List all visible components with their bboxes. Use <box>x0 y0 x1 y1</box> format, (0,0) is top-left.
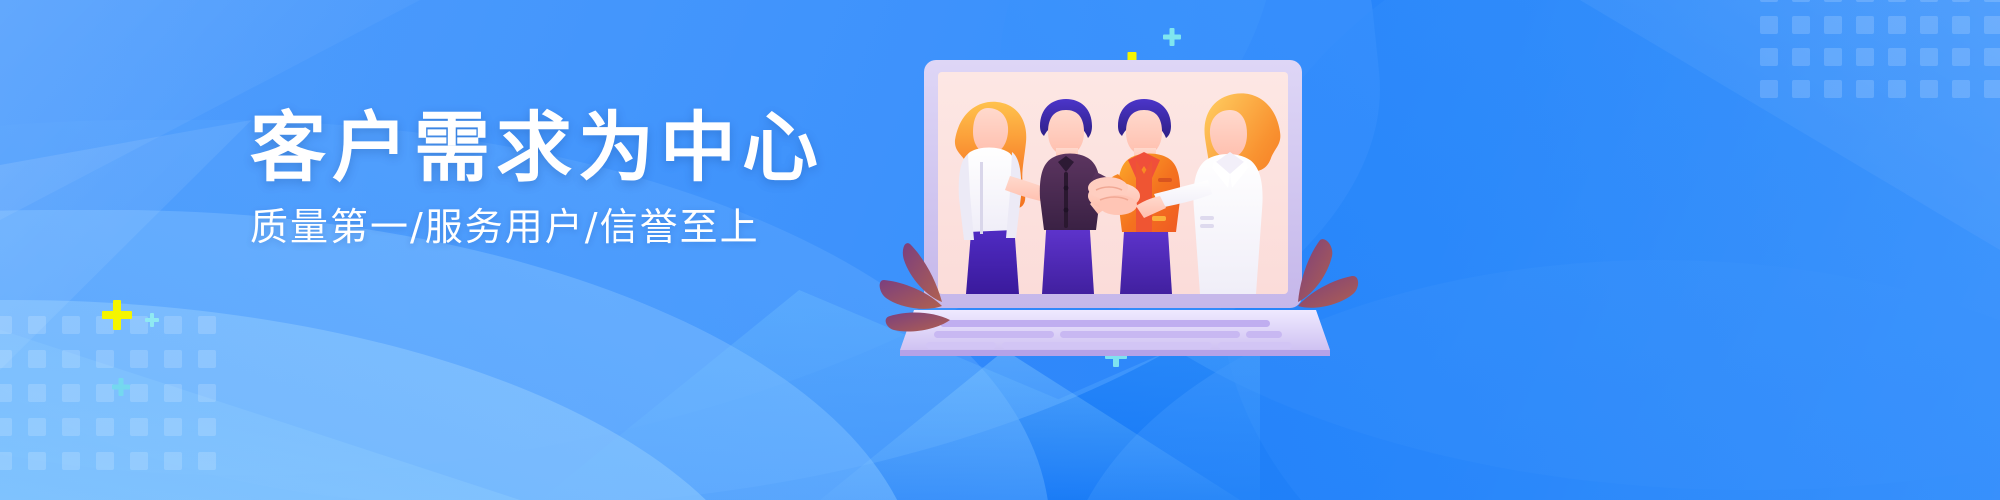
grid-cell <box>198 384 216 402</box>
grid-cell <box>164 350 182 368</box>
grid-cell <box>198 452 216 470</box>
background-wave-5 <box>0 300 780 500</box>
grid-cell <box>1856 16 1874 34</box>
grid-cell <box>1952 16 1970 34</box>
dot-grid-left <box>0 316 244 496</box>
grid-cell <box>1856 0 1874 2</box>
grid-cell <box>28 316 46 334</box>
grid-cell <box>28 418 46 436</box>
grid-cell <box>1824 80 1842 98</box>
grid-cell <box>1952 80 1970 98</box>
grid-cell <box>1920 16 1938 34</box>
grid-cell <box>164 316 182 334</box>
grid-cell <box>130 418 148 436</box>
grid-cell <box>1984 16 2000 34</box>
grid-cell <box>164 418 182 436</box>
grid-cell <box>1952 0 1970 2</box>
grid-cell <box>96 384 114 402</box>
grid-cell <box>130 350 148 368</box>
grid-cell <box>1760 48 1778 66</box>
grid-cell <box>62 384 80 402</box>
grid-cell <box>1952 48 1970 66</box>
grid-cell <box>1792 0 1810 2</box>
grid-cell <box>1760 80 1778 98</box>
background-wave-7 <box>1220 0 2000 500</box>
grid-cell <box>96 452 114 470</box>
grid-cell <box>0 316 12 334</box>
grid-cell <box>198 316 216 334</box>
grid-cell <box>1792 48 1810 66</box>
grid-cell <box>164 452 182 470</box>
grid-cell <box>62 418 80 436</box>
plus-cyan-upper-icon <box>112 378 130 396</box>
grid-cell <box>96 316 114 334</box>
facet-top-right <box>1580 0 2000 250</box>
banner-text-block: 客户需求为中心 质量第一/服务用户/信誉至上 <box>250 108 810 250</box>
facet-bottom-peak <box>820 350 1240 500</box>
grid-cell <box>1888 48 1906 66</box>
grid-cell <box>0 384 12 402</box>
plus-cyan-small-icon <box>1163 28 1181 46</box>
grid-cell <box>1760 16 1778 34</box>
grid-cell <box>1792 16 1810 34</box>
grid-cell <box>1824 48 1842 66</box>
grid-cell <box>130 316 148 334</box>
grid-cell <box>96 350 114 368</box>
banner-subline: 质量第一/服务用户/信誉至上 <box>250 205 810 251</box>
grid-cell <box>28 452 46 470</box>
banner-headline: 客户需求为中心 <box>250 108 810 189</box>
grid-cell <box>1824 0 1842 2</box>
grid-cell <box>1984 80 2000 98</box>
grid-cell <box>1920 48 1938 66</box>
grid-cell <box>1888 80 1906 98</box>
grid-cell <box>198 350 216 368</box>
grid-cell <box>1824 16 1842 34</box>
background-wave-4 <box>0 210 920 500</box>
grid-cell <box>0 350 12 368</box>
plus-yellow-bottom-icon <box>102 300 132 330</box>
grid-cell <box>62 350 80 368</box>
grid-cell <box>130 452 148 470</box>
grid-cell <box>164 384 182 402</box>
laptop-team-illustration <box>900 48 1330 358</box>
grid-cell <box>0 452 12 470</box>
grid-cell <box>1888 0 1906 2</box>
grid-cell <box>1984 0 2000 2</box>
grid-cell <box>1856 80 1874 98</box>
grid-cell <box>1760 0 1778 2</box>
plus-cyan-bottom-icon <box>145 313 159 327</box>
grid-cell <box>0 418 12 436</box>
grid-cell <box>28 350 46 368</box>
leaf-cluster-right <box>1298 239 1358 308</box>
grid-cell <box>198 418 216 436</box>
grid-cell <box>1984 48 2000 66</box>
facet-bottom-left <box>0 270 520 500</box>
grid-cell <box>96 418 114 436</box>
grid-cell <box>130 384 148 402</box>
grid-cell <box>62 452 80 470</box>
grid-cell <box>1856 48 1874 66</box>
laptop-keyboard <box>900 310 1330 356</box>
grid-cell <box>62 316 80 334</box>
grid-cell <box>28 384 46 402</box>
grid-cell <box>1920 80 1938 98</box>
grid-cell <box>1888 16 1906 34</box>
promo-banner: 客户需求为中心 质量第一/服务用户/信誉至上 <box>0 0 2000 500</box>
dot-grid-right <box>1760 0 2000 114</box>
grid-cell <box>1792 80 1810 98</box>
grid-cell <box>1920 0 1938 2</box>
